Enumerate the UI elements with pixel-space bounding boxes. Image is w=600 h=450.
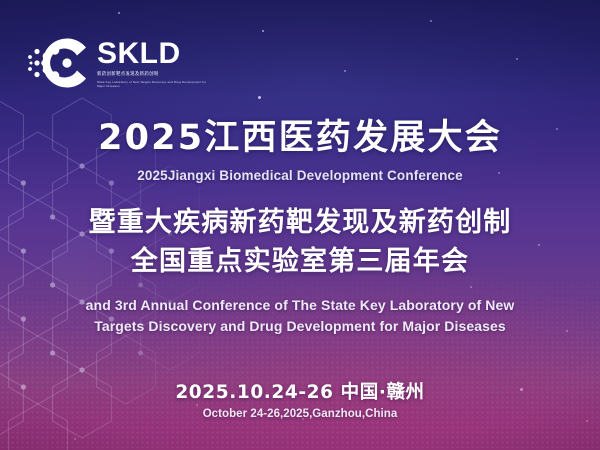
event-date-location: 2025.10.24-26 中国·赣州 October 24-26,2025,G… (0, 382, 600, 420)
subtitle-chinese-line-2: 全国重点实验室第三届年会 (0, 243, 600, 280)
main-title-english: 2025Jiangxi Biomedical Development Confe… (0, 168, 600, 183)
subtitle-english-line-2: Targets Discovery and Drug Development f… (0, 316, 600, 337)
main-title-chinese: 2025江西医药发展大会 (0, 118, 600, 159)
logo-wordmark: SKLD (97, 39, 215, 69)
headline-content: 2025江西医药发展大会 2025Jiangxi Biomedical Deve… (0, 118, 600, 338)
logo-text-group: SKLD 新药创新靶点发现及新药创制 State Key Laboratory … (97, 37, 215, 89)
event-date-chinese: 2025.10.24-26 中国·赣州 (0, 382, 600, 404)
logo-chinese-name: 新药创新靶点发现及新药创制 (97, 72, 215, 78)
event-date-english: October 24-26,2025,Ganzhou,China (0, 408, 600, 420)
subtitle-english-line-1: and 3rd Annual Conference of The State K… (0, 295, 600, 316)
subtitle-english-block: and 3rd Annual Conference of The State K… (0, 295, 600, 338)
skld-logo: SKLD 新药创新靶点发现及新药创制 State Key Laboratory … (28, 34, 215, 92)
conference-poster: SKLD 新药创新靶点发现及新药创制 State Key Laboratory … (0, 0, 600, 450)
molecular-c-icon (28, 34, 90, 92)
subtitle-chinese-line-1: 暨重大疾病新药靶发现及新药创制 (0, 204, 600, 241)
logo-english-name: State Key Laboratory of New Targets Disc… (97, 80, 215, 89)
